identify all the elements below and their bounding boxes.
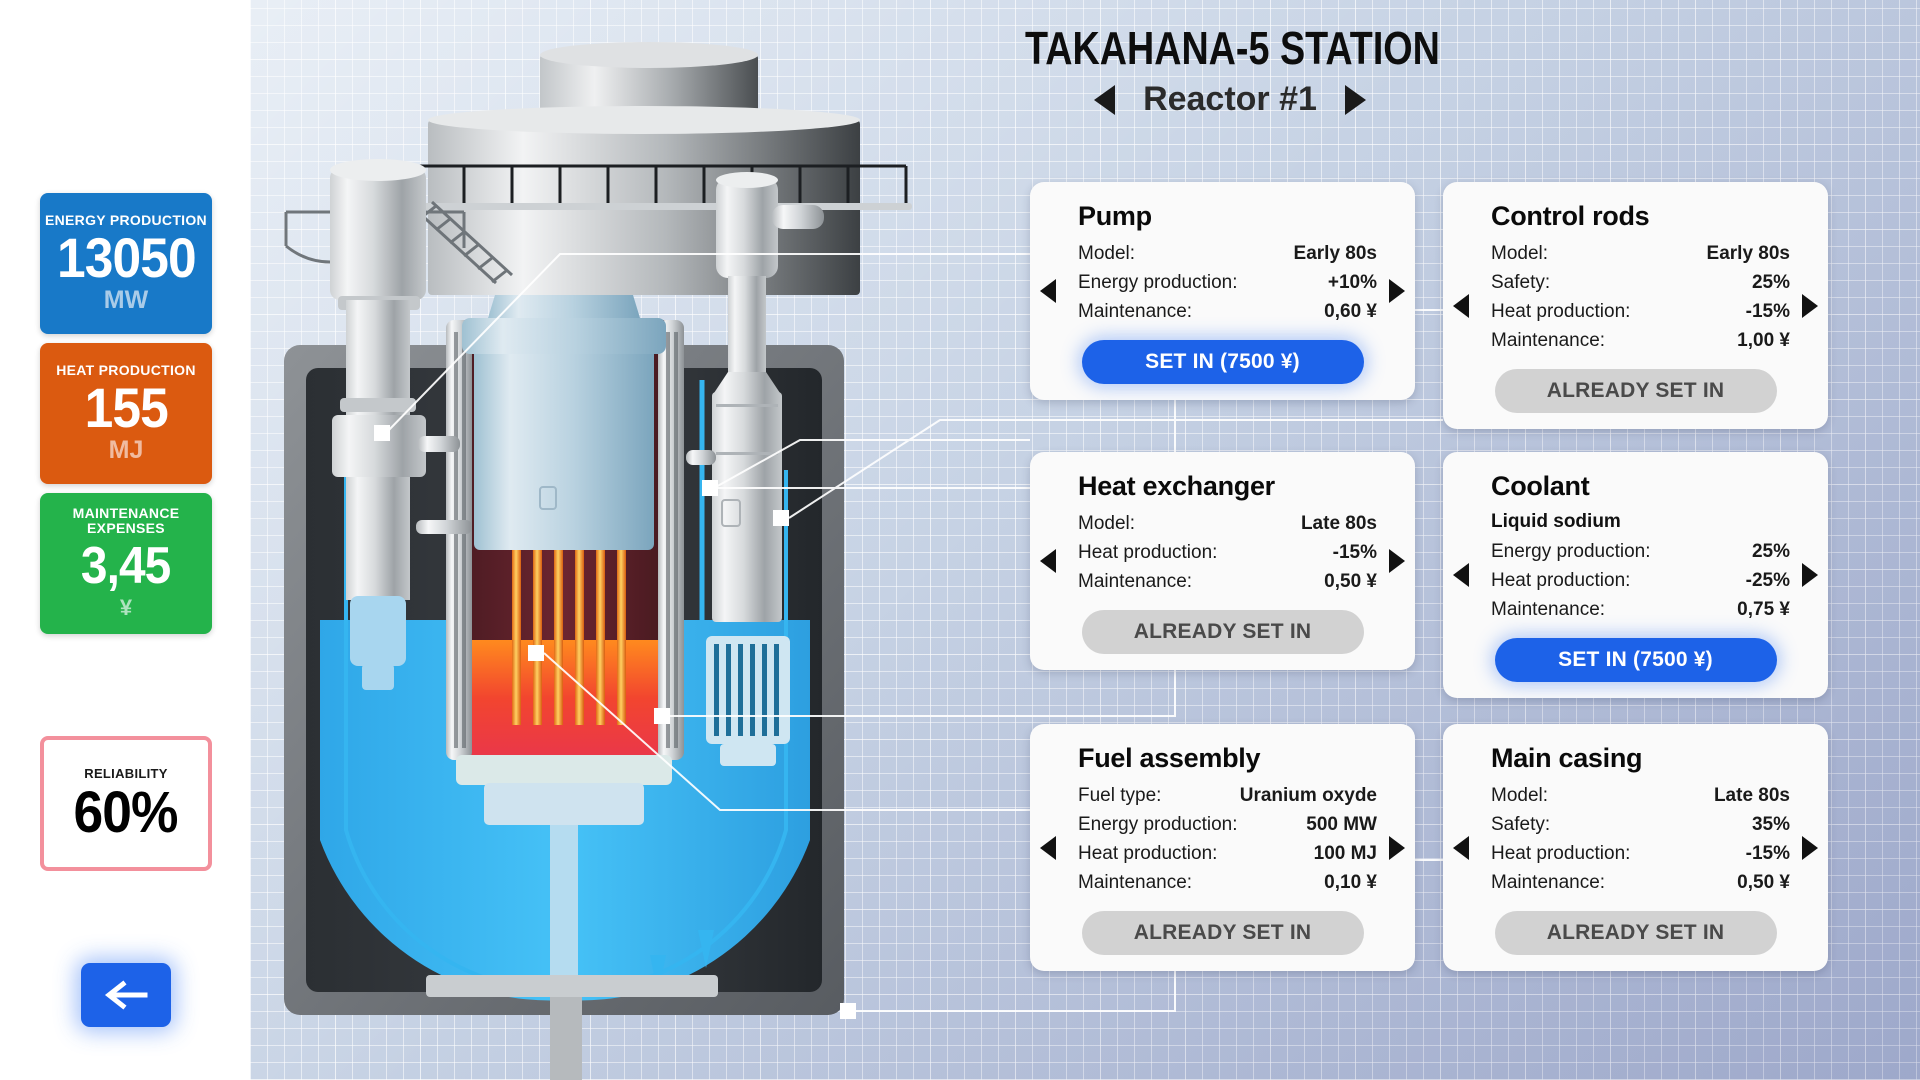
spec-row: Maintenance: 0,50 ¥	[1491, 868, 1790, 897]
spec-value: 0,10 ¥	[1324, 868, 1377, 897]
spec-value: Late 80s	[1301, 509, 1377, 538]
spec-value: 25%	[1752, 268, 1790, 297]
spec-key: Maintenance:	[1491, 868, 1605, 897]
spec-key: Safety:	[1491, 268, 1550, 297]
component-title: Heat exchanger	[1078, 470, 1393, 502]
stat-value: 60%	[74, 785, 178, 841]
triangle-right-icon[interactable]	[1345, 85, 1366, 115]
component-title: Coolant	[1491, 470, 1806, 502]
spec-value: 25%	[1752, 537, 1790, 566]
next-model-arrow[interactable]	[1802, 836, 1818, 860]
prev-model-arrow[interactable]	[1453, 563, 1469, 587]
spec-key: Maintenance:	[1078, 297, 1192, 326]
stat-unit: MJ	[109, 436, 144, 464]
spec-value: 0,60 ¥	[1324, 297, 1377, 326]
already-set-in-button[interactable]: ALREADY SET IN	[1495, 911, 1777, 955]
spec-value: -15%	[1746, 297, 1790, 326]
spec-value: 500 MW	[1306, 810, 1377, 839]
set-in-button[interactable]: SET IN (7500 ¥)	[1495, 638, 1777, 682]
spec-key: Heat production:	[1491, 839, 1630, 868]
spec-value: -25%	[1746, 566, 1790, 595]
component-card-coolant: Coolant Liquid sodium Energy production:…	[1443, 452, 1828, 698]
prev-model-arrow[interactable]	[1040, 836, 1056, 860]
component-title: Main casing	[1491, 742, 1806, 774]
spec-key: Fuel type:	[1078, 781, 1161, 810]
spec-row: Energy production: +10%	[1078, 268, 1377, 297]
component-spec-list: Model: Early 80s Energy production: +10%…	[1078, 239, 1377, 326]
component-title: Fuel assembly	[1078, 742, 1393, 774]
spec-key: Maintenance:	[1078, 567, 1192, 596]
component-card-pump: Pump Model: Early 80s Energy production:…	[1030, 182, 1415, 400]
already-set-in-button[interactable]: ALREADY SET IN	[1495, 369, 1777, 413]
stat-value: 13050	[57, 230, 196, 286]
marker-control-rods	[654, 708, 670, 724]
spec-row: Heat production: -15%	[1491, 297, 1790, 326]
stat-value: 155	[84, 380, 167, 436]
already-set-in-button[interactable]: ALREADY SET IN	[1082, 911, 1364, 955]
spec-key: Model:	[1078, 509, 1135, 538]
spec-key: Maintenance:	[1491, 326, 1605, 355]
spec-key: Heat production:	[1078, 538, 1217, 567]
next-model-arrow[interactable]	[1389, 549, 1405, 573]
spec-value: 0,75 ¥	[1737, 595, 1790, 624]
stat-label: MAINTENANCE EXPENSES	[40, 506, 212, 536]
component-subtitle: Liquid sodium	[1491, 509, 1806, 535]
spec-value: Uranium oxyde	[1240, 781, 1377, 810]
next-model-arrow[interactable]	[1802, 563, 1818, 587]
containment-head-graphic	[412, 42, 912, 295]
component-title: Pump	[1078, 200, 1393, 232]
reactor-illustration	[250, 0, 970, 1080]
spec-row: Model: Early 80s	[1491, 239, 1790, 268]
reactor-selector: Reactor #1	[980, 80, 1480, 119]
spec-row: Heat production: -15%	[1078, 538, 1377, 567]
component-spec-list: Energy production: 25% Heat production: …	[1491, 537, 1790, 624]
spec-key: Model:	[1491, 239, 1548, 268]
stat-value: 3,45	[81, 538, 170, 594]
spec-key: Heat production:	[1078, 839, 1217, 868]
prev-model-arrow[interactable]	[1040, 279, 1056, 303]
stat-unit: MW	[104, 286, 148, 314]
set-in-button[interactable]: SET IN (7500 ¥)	[1082, 340, 1364, 384]
triangle-left-icon[interactable]	[1094, 85, 1115, 115]
spec-row: Maintenance: 0,75 ¥	[1491, 595, 1790, 624]
spec-row: Heat production: 100 MJ	[1078, 839, 1377, 868]
spec-row: Heat production: -15%	[1491, 839, 1790, 868]
component-card-heat-exchanger: Heat exchanger Model: Late 80s Heat prod…	[1030, 452, 1415, 670]
spec-key: Heat production:	[1491, 297, 1630, 326]
next-model-arrow[interactable]	[1802, 294, 1818, 318]
spec-key: Model:	[1491, 781, 1548, 810]
station-title: TAKAHANA-5 STATION	[1025, 22, 1435, 74]
spec-row: Safety: 25%	[1491, 268, 1790, 297]
spec-row: Safety: 35%	[1491, 810, 1790, 839]
marker-pump	[374, 425, 390, 441]
stat-card-heat-production: HEAT PRODUCTION 155 MJ	[40, 343, 212, 484]
spec-row: Model: Early 80s	[1078, 239, 1377, 268]
spec-value: 1,00 ¥	[1737, 326, 1790, 355]
marker-fuel-assembly	[528, 645, 544, 661]
spec-key: Maintenance:	[1491, 595, 1605, 624]
component-card-fuel-assembly: Fuel assembly Fuel type: Uranium oxyde E…	[1030, 724, 1415, 971]
spec-row: Heat production: -25%	[1491, 566, 1790, 595]
stat-card-reliability: RELIABILITY 60%	[40, 736, 212, 871]
spec-value: Early 80s	[1294, 239, 1377, 268]
spec-value: 35%	[1752, 810, 1790, 839]
spec-row: Maintenance: 0,50 ¥	[1078, 567, 1377, 596]
next-model-arrow[interactable]	[1389, 836, 1405, 860]
stat-card-energy-production: ENERGY PRODUCTION 13050 MW	[40, 193, 212, 334]
page-header: TAKAHANA-5 STATION Reactor #1	[980, 22, 1480, 119]
marker-main-casing	[840, 1003, 856, 1019]
spec-key: Maintenance:	[1078, 868, 1192, 897]
stat-label: RELIABILITY	[84, 766, 167, 781]
spec-row: Energy production: 25%	[1491, 537, 1790, 566]
spec-row: Fuel type: Uranium oxyde	[1078, 781, 1377, 810]
stats-sidebar: ENERGY PRODUCTION 13050 MW HEAT PRODUCTI…	[0, 0, 250, 1080]
spec-row: Model: Late 80s	[1078, 509, 1377, 538]
spec-key: Heat production:	[1491, 566, 1630, 595]
spec-row: Energy production: 500 MW	[1078, 810, 1377, 839]
stat-card-maintenance-expenses: MAINTENANCE EXPENSES 3,45 ¥	[40, 493, 212, 634]
spec-value: +10%	[1328, 268, 1377, 297]
spec-key: Energy production:	[1078, 810, 1238, 839]
marker-coolant	[773, 510, 789, 526]
spec-value: Early 80s	[1707, 239, 1790, 268]
arrow-left-icon	[103, 980, 149, 1010]
prev-model-arrow[interactable]	[1453, 294, 1469, 318]
spec-row: Model: Late 80s	[1491, 781, 1790, 810]
spec-row: Maintenance: 0,10 ¥	[1078, 868, 1377, 897]
spec-value: -15%	[1746, 839, 1790, 868]
component-card-control-rods: Control rods Model: Early 80s Safety: 25…	[1443, 182, 1828, 429]
already-set-in-button[interactable]: ALREADY SET IN	[1082, 610, 1364, 654]
spec-value: 100 MJ	[1314, 839, 1377, 868]
component-spec-list: Model: Late 80s Safety: 35% Heat product…	[1491, 781, 1790, 897]
component-title: Control rods	[1491, 200, 1806, 232]
next-model-arrow[interactable]	[1389, 279, 1405, 303]
component-card-main-casing: Main casing Model: Late 80s Safety: 35% …	[1443, 724, 1828, 971]
spec-value: -15%	[1333, 538, 1377, 567]
reactor-name: Reactor #1	[1143, 80, 1317, 119]
stat-unit: ¥	[120, 594, 132, 622]
marker-heat-exchanger	[702, 480, 718, 496]
spec-value: 0,50 ¥	[1324, 567, 1377, 596]
prev-model-arrow[interactable]	[1040, 549, 1056, 573]
component-spec-list: Model: Early 80s Safety: 25% Heat produc…	[1491, 239, 1790, 355]
spec-row: Maintenance: 1,00 ¥	[1491, 326, 1790, 355]
spec-key: Model:	[1078, 239, 1135, 268]
spec-key: Energy production:	[1491, 537, 1651, 566]
spec-value: 0,50 ¥	[1737, 868, 1790, 897]
spec-key: Energy production:	[1078, 268, 1238, 297]
spec-row: Maintenance: 0,60 ¥	[1078, 297, 1377, 326]
component-spec-list: Model: Late 80s Heat production: -15% Ma…	[1078, 509, 1377, 596]
reactor-base-graphic	[426, 975, 718, 1080]
spec-key: Safety:	[1491, 810, 1550, 839]
back-button[interactable]	[81, 963, 171, 1027]
spec-value: Late 80s	[1714, 781, 1790, 810]
prev-model-arrow[interactable]	[1453, 836, 1469, 860]
component-spec-list: Fuel type: Uranium oxyde Energy producti…	[1078, 781, 1377, 897]
